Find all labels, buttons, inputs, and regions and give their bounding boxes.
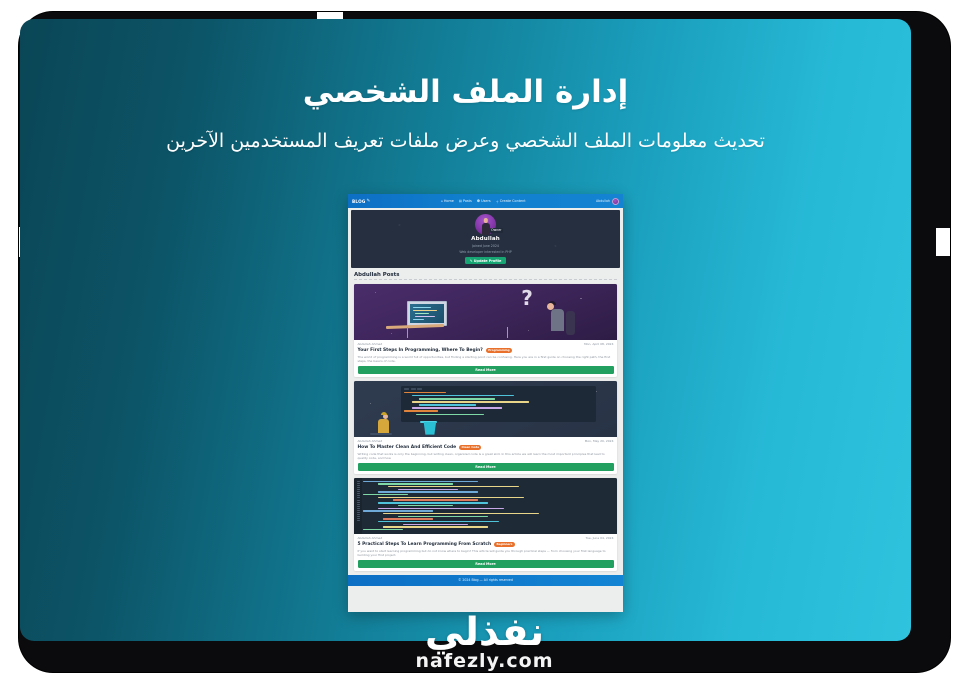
site-nav-user[interactable]: Abdullah [596, 198, 619, 205]
file-icon: ▤ [459, 199, 462, 203]
person-cap [381, 412, 387, 415]
post-title-row: How To Master Clean And Efficient Code C… [358, 445, 614, 451]
edit-glyph: ✎ [470, 259, 473, 263]
post-card[interactable]: Abdullah Ahmed Mon, May 20, 2024 How To … [354, 381, 617, 475]
post-excerpt: If you want to start learning programmin… [358, 549, 614, 558]
profile-header-panel: Owner Abdullah Joined June 2024 Web deve… [351, 210, 620, 268]
post-author: Abdullah Ahmed [358, 536, 383, 540]
question-mark-glyph: ? [521, 288, 533, 308]
code-editor-illustration [354, 381, 617, 437]
post-date: Mon, April 08, 2024 [584, 342, 613, 346]
profile-role-badge: Owner [490, 228, 503, 233]
site-logo[interactable]: BLOG ✎ [352, 199, 371, 204]
nav-user-name: Abdullah [596, 199, 610, 203]
post-title[interactable]: Your First Steps In Programming, Where T… [358, 348, 483, 353]
post-title-row: 5 Practical Steps To Learn Programming F… [358, 542, 614, 548]
person-body [378, 419, 389, 433]
editor-gutter [354, 478, 362, 534]
read-more-button[interactable]: Read More [358, 463, 614, 471]
post-title[interactable]: 5 Practical Steps To Learn Programming F… [358, 542, 492, 547]
tablet-screen: إدارة الملف الشخصي تحديث معلومات الملف ا… [20, 19, 911, 641]
hero-heading-group: إدارة الملف الشخصي تحديث معلومات الملف ا… [20, 73, 911, 154]
site-navbar: BLOG ✎ ⌂ Home ▤ Posts ☻ Users [348, 194, 623, 208]
monitor-shape [407, 301, 447, 326]
chair-shape [566, 311, 575, 335]
update-profile-button-label: Update Profile [474, 259, 501, 263]
post-author: Abdullah Ahmed [358, 342, 383, 346]
editor-tabbar [404, 388, 593, 390]
editor-window [401, 386, 596, 422]
screenshot-root: إدارة الملف الشخصي تحديث معلومات الملف ا… [0, 0, 969, 680]
post-body: Abdullah Ahmed Tue, June 04, 2024 5 Prac… [354, 534, 617, 572]
read-more-button[interactable]: Read More [358, 560, 614, 568]
nav-link-users-label: Users [481, 199, 491, 203]
post-meta: Abdullah Ahmed Mon, April 08, 2024 [358, 342, 614, 346]
nav-link-create-content-label: Create Content [500, 199, 526, 203]
desk-shape [386, 323, 444, 328]
post-meta: Abdullah Ahmed Mon, May 20, 2024 [358, 439, 614, 443]
nav-link-posts-label: Posts [463, 199, 472, 203]
profile-avatar[interactable]: Owner [475, 214, 496, 235]
code-screenshot [354, 478, 617, 534]
post-category-badge: Clean Code [459, 445, 481, 451]
avatar-figure [482, 223, 490, 235]
user-avatar-icon[interactable] [612, 198, 619, 205]
profile-name: Abdullah [471, 236, 500, 242]
website-screenshot-mock: BLOG ✎ ⌂ Home ▤ Posts ☻ Users [348, 194, 623, 612]
monitor-screen [410, 304, 444, 323]
post-author: Abdullah Ahmed [358, 439, 383, 443]
pencil-icon: ✎ [367, 199, 371, 204]
posts-section: Abdullah Posts ? [348, 268, 623, 571]
person-head [547, 303, 554, 310]
post-body: Abdullah Ahmed Mon, May 20, 2024 How To … [354, 437, 617, 475]
post-category-badge: Beginners [494, 542, 515, 548]
nav-link-create-content[interactable]: ＋ Create Content [496, 199, 526, 204]
nav-link-users[interactable]: ☻ Users [477, 199, 491, 203]
post-date: Mon, May 20, 2024 [585, 439, 614, 443]
plus-icon: ＋ [496, 199, 499, 204]
nav-link-posts[interactable]: ▤ Posts [459, 199, 472, 203]
post-excerpt: Writing code that works is only the begi… [358, 452, 614, 461]
site-footer: © 2024 Blog — All rights reserved [348, 575, 623, 586]
post-title[interactable]: How To Master Clean And Efficient Code [358, 445, 457, 450]
nav-link-home[interactable]: ⌂ Home [441, 199, 454, 203]
site-logo-text: BLOG [352, 199, 366, 204]
post-meta: Abdullah Ahmed Tue, June 04, 2024 [358, 536, 614, 540]
post-body: Abdullah Ahmed Mon, April 08, 2024 Your … [354, 340, 617, 378]
post-card[interactable]: Abdullah Ahmed Tue, June 04, 2024 5 Prac… [354, 478, 617, 572]
person-body [551, 309, 564, 331]
update-profile-button[interactable]: pencil-icon ✎ Update Profile [465, 257, 507, 264]
post-card[interactable]: ? [354, 284, 617, 378]
home-icon: ⌂ [441, 199, 443, 203]
avatar-head [483, 218, 487, 222]
bezel-notch-right [936, 228, 950, 256]
nav-link-home-label: Home [444, 199, 454, 203]
page-title: إدارة الملف الشخصي [20, 73, 911, 112]
bucket-shape [422, 422, 437, 435]
post-title-row: Your First Steps In Programming, Where T… [358, 348, 614, 354]
post-category-badge: Programming [486, 348, 512, 354]
users-icon: ☻ [477, 199, 480, 203]
divider [354, 279, 617, 280]
purple-desk-illustration: ? [354, 284, 617, 340]
read-more-button[interactable]: Read More [358, 366, 614, 374]
site-nav-links: ⌂ Home ▤ Posts ☻ Users ＋ Create Content [441, 199, 526, 204]
posts-section-heading: Abdullah Posts [354, 272, 617, 278]
post-excerpt: The world of programming is a world full… [358, 355, 614, 364]
page-subtitle: تحديث معلومات الملف الشخصي وعرض ملفات تع… [20, 129, 911, 155]
profile-bio: Web developer interested in PHP [459, 250, 511, 254]
post-date: Tue, June 04, 2024 [586, 536, 614, 540]
ground-line [370, 433, 392, 435]
profile-joined-date: Joined June 2024 [472, 244, 499, 248]
